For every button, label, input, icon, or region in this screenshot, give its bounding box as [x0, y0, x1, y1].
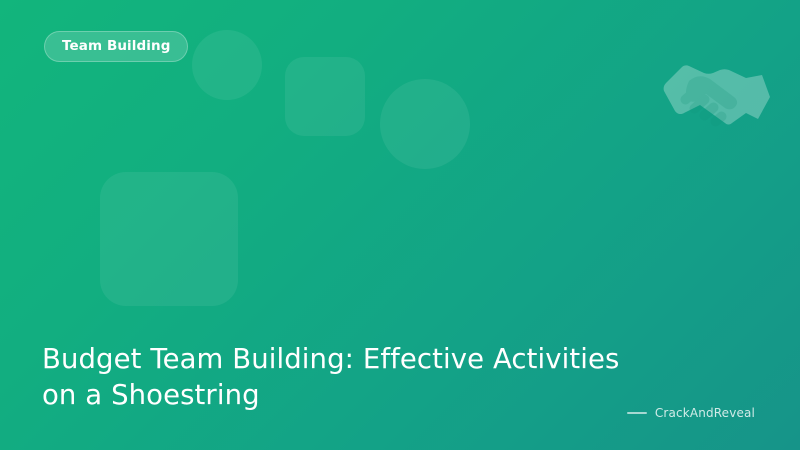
decorative-rounded-square-medium [285, 57, 365, 136]
handshake-icon [662, 57, 772, 137]
brand-name: CrackAndReveal [655, 406, 755, 420]
title-block: Budget Team Building: Effective Activiti… [42, 341, 642, 413]
brand: CrackAndReveal [627, 406, 755, 420]
category-badge[interactable]: Team Building [44, 31, 188, 62]
decorative-circle-medium [380, 79, 470, 169]
brand-rule-icon [627, 412, 647, 414]
page-title: Budget Team Building: Effective Activiti… [42, 341, 642, 413]
social-card: Team Building Budget Team Building: Effe… [0, 0, 800, 450]
category-badge-label: Team Building [62, 40, 170, 54]
decorative-circle-small [192, 30, 262, 100]
decorative-rounded-square-large [100, 172, 238, 306]
